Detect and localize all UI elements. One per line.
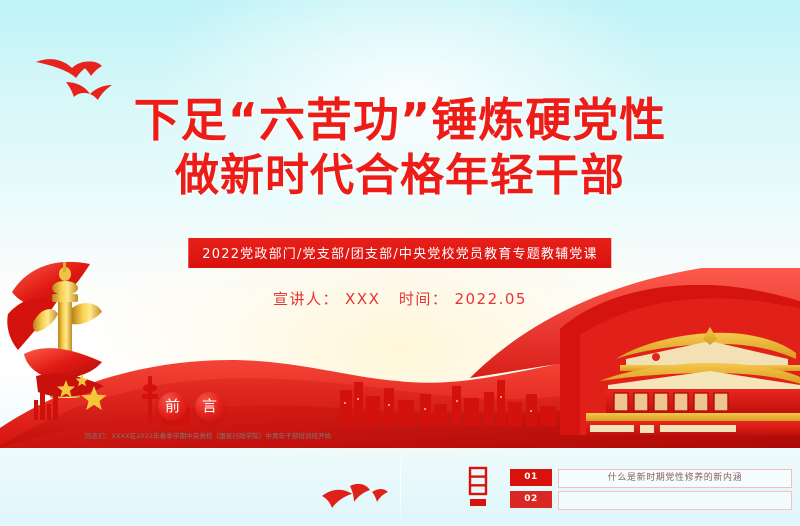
contents-icon — [468, 466, 488, 506]
page-title-line-1: 下足“六苦功”锤炼硬党性 — [0, 92, 800, 149]
foreword-badge-qian: 前 — [158, 392, 187, 421]
contents-item-01-number: 01 — [510, 469, 552, 486]
huabiao-monument — [6, 258, 136, 438]
slide-canvas: 下足“六苦功”锤炼硬党性 做新时代合格年轻干部 2022党政部门/党支部/团支部… — [0, 0, 800, 526]
foreword-badge-yan: 言 — [195, 392, 224, 421]
doves-small-icon — [320, 480, 390, 514]
contents-item-02-number: 02 — [510, 491, 552, 508]
contents-item-02-label — [558, 491, 792, 510]
tiananmen-illustration — [560, 285, 800, 435]
contents-item-02[interactable]: 02 — [510, 491, 792, 510]
foreword-note: 同志们：XXXX在2022年春季学期中央党校（国家行政学院）中青年干部培训班开始 — [85, 430, 395, 440]
page-title-line-2: 做新时代合格年轻干部 — [0, 149, 800, 203]
foreword-badges: 前 言 — [158, 392, 224, 421]
title-block: 下足“六苦功”锤炼硬党性 做新时代合格年轻干部 — [0, 92, 800, 203]
foreword-panel: 前 言 同志们：XXXX在2022年春季学期中央党校（国家行政学院）中青年干部培… — [0, 444, 400, 526]
contents-item-01[interactable]: 01 什么是新时期党性修养的新内涵 — [510, 469, 792, 488]
contents-item-01-label: 什么是新时期党性修养的新内涵 — [558, 469, 792, 488]
subtitle-banner: 2022党政部门/党支部/团支部/中央党校党员教育专题教辅党课 — [188, 238, 611, 268]
bottom-section: 前 言 同志们：XXXX在2022年春季学期中央党校（国家行政学院）中青年干部培… — [0, 444, 800, 526]
contents-panel: 01 什么是新时期党性修养的新内涵 02 — [400, 444, 800, 526]
